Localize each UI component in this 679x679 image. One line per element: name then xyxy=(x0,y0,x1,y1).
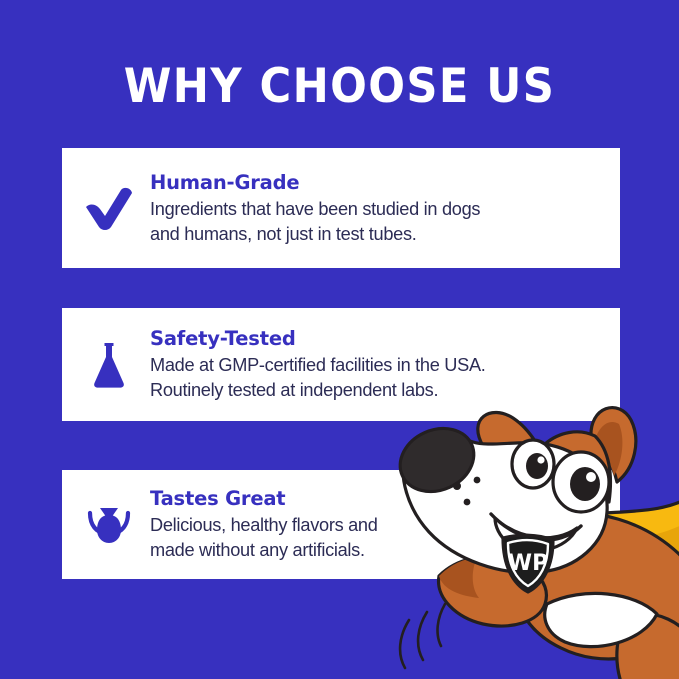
feature-card-text: Human-Grade Ingredients that have been s… xyxy=(150,170,620,247)
feature-title: Safety-Tested xyxy=(150,326,604,351)
checkmark-icon xyxy=(62,148,150,268)
flask-icon xyxy=(62,308,150,421)
dog-hind-leg xyxy=(617,613,679,679)
feature-title: Tastes Great xyxy=(150,486,604,511)
motion-line xyxy=(400,620,409,668)
page-title: WHY CHOOSE US xyxy=(27,60,652,114)
dog-belly xyxy=(545,593,657,646)
feature-card-text: Safety-Tested Made at GMP-certified faci… xyxy=(150,326,620,403)
tongue-icon xyxy=(62,470,150,579)
motion-line xyxy=(418,612,427,660)
why-choose-us-panel: WHY CHOOSE US Human-Grade Ingredients th… xyxy=(0,0,679,679)
feature-title: Human-Grade xyxy=(150,170,604,195)
feature-card-safety-tested: Safety-Tested Made at GMP-certified faci… xyxy=(62,308,620,421)
feature-description: Made at GMP-certified facilities in the … xyxy=(150,353,604,403)
feature-card-tastes-great: Tastes Great Delicious, healthy flavors … xyxy=(62,470,620,579)
feature-card-text: Tastes Great Delicious, healthy flavors … xyxy=(150,486,620,563)
feature-description: Ingredients that have been studied in do… xyxy=(150,197,604,247)
feature-card-human-grade: Human-Grade Ingredients that have been s… xyxy=(62,148,620,268)
motion-line xyxy=(438,604,445,646)
feature-description: Delicious, healthy flavors and made with… xyxy=(150,513,604,563)
